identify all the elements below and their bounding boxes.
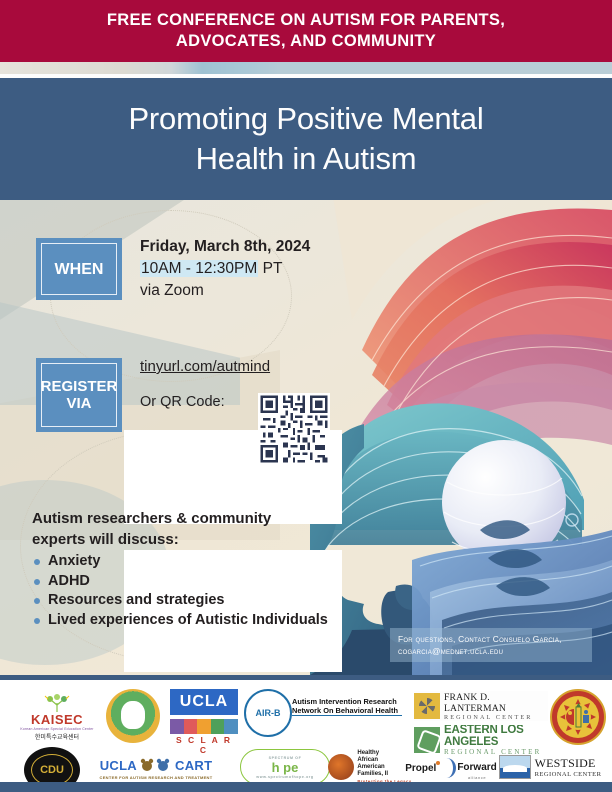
logo-bar-bottom-rule [0, 782, 612, 792]
westside-text: WESTSIDE REGIONAL CENTER [535, 756, 602, 778]
hope-url: www.spectrumofhope.org [256, 775, 313, 779]
event-date: Friday, March 8th, 2024 [140, 236, 340, 258]
frank-lanterman-regional-center-logo: FRANK D. LANTERMAN REGIONAL CENTER [414, 691, 548, 721]
sclarc-logo: S C L A R C [170, 719, 238, 755]
flyer-title: Promoting Positive Mental Health in Auti… [26, 99, 586, 179]
title-band: Promoting Positive Mental Health in Auti… [0, 78, 612, 200]
list-item: Lived experiences of Autistic Individual… [32, 611, 352, 631]
sclarc-wordmark: S C L A R C [170, 735, 238, 755]
westside-regional-center-logo: WESTSIDE REGIONAL CENTER [488, 753, 612, 781]
title-line-2: Health in Autism [26, 139, 586, 179]
register-tag-label-line2: VIA [41, 395, 118, 412]
when-details: Friday, March 8th, 2024 10AM - 12:30PM P… [140, 236, 340, 302]
register-tag: REGISTER VIA [36, 358, 122, 432]
lanterman-icon [414, 693, 440, 719]
cart-word: CART [175, 758, 212, 773]
header-banner-text: FREE CONFERENCE ON AUTISM FOR PARENTS, A… [36, 10, 576, 52]
header-line-1: FREE CONFERENCE ON AUTISM FOR PARENTS, [36, 10, 576, 31]
airb-wordmark: AIR-B [256, 708, 281, 718]
title-line-1: Promoting Positive Mental [26, 99, 586, 139]
spectrum-of-hope-logo: SPECTRUM OF h pe www.spectrumofhope.org [240, 749, 330, 785]
cdu-wordmark: CDU [40, 764, 64, 776]
haf-icon [328, 754, 354, 780]
event-mode: via Zoom [140, 280, 340, 302]
airb-label-line1: Autism Intervention Research [292, 697, 397, 706]
list-item: Anxiety [32, 552, 352, 572]
gradient-divider-strip [0, 62, 612, 74]
ucla-logo: UCLA [170, 689, 238, 715]
cart-bears-icon [139, 757, 173, 775]
contact-box: For questions, Contact Consuelo Garcia, … [390, 628, 592, 662]
qr-code[interactable] [258, 393, 330, 465]
discussion-heading-line1: Autism researchers & community [32, 508, 352, 529]
eastern-los-angeles-regional-center-logo: EASTERN LOS ANGELES REGIONAL CENTER [414, 725, 548, 755]
westside-icon [499, 755, 531, 779]
airb-logo: AIR-B [244, 689, 292, 737]
kaisec-wordmark: KAISEC [31, 712, 83, 727]
logo-bar-top-rule [0, 675, 612, 680]
propel-arc-icon [437, 758, 456, 778]
contact-email: cogarcia@mednet.ucla.edu [398, 645, 584, 657]
event-time: 10AM - 12:30PM PT [140, 258, 340, 280]
conference-flyer: FREE CONFERENCE ON AUTISM FOR PARENTS, A… [0, 0, 612, 792]
kaisec-subtitle: Korean American Special Education Center [20, 727, 93, 731]
kaisec-tree-icon [40, 694, 74, 712]
lausd-seal-logo [550, 689, 606, 745]
when-tag-label: WHEN [55, 261, 104, 278]
propel-word: Propel [405, 763, 436, 774]
discussion-topics: Anxiety ADHD Resources and strategies Li… [32, 552, 352, 630]
cart-subtitle: CENTER FOR AUTISM RESEARCH AND TREATMENT [100, 775, 213, 780]
sclarc-figures [170, 719, 238, 734]
event-time-value: 10AM - 12:30PM [140, 260, 258, 277]
list-item: Resources and strategies [32, 591, 352, 611]
lanterman-subtitle: REGIONAL CENTER [444, 714, 548, 721]
contact-line-1: For questions, Contact Consuelo Garcia, [398, 633, 584, 645]
discussion-heading-line2: experts will discuss: [32, 529, 352, 550]
kaisec-korean: 한미특수교육센터 [35, 732, 79, 741]
airb-network-label: Autism Intervention Research Network On … [292, 697, 402, 727]
discussion-list: Autism researchers & community experts w… [32, 508, 352, 630]
header-banner: FREE CONFERENCE ON AUTISM FOR PARENTS, A… [0, 0, 612, 62]
event-timezone: PT [258, 260, 282, 277]
qr-label: Or QR Code: [140, 394, 225, 410]
airb-label-line2: Network On Behavioral Health [292, 706, 402, 716]
kaisec-logo: KAISEC Korean American Special Education… [14, 691, 100, 743]
ucla-cart-logo: UCLA CART CENTER FOR AUTISM RESEARCH AND… [78, 753, 234, 783]
fiesta-educativa-logo [106, 689, 160, 743]
list-item: ADHD [32, 572, 352, 592]
elarc-text: EASTERN LOS ANGELES REGIONAL CENTER [444, 725, 548, 755]
qr-code-svg [258, 393, 330, 465]
westside-name: WESTSIDE [535, 756, 602, 771]
westside-subtitle: REGIONAL CENTER [535, 771, 602, 778]
register-tag-label-line1: REGISTER [41, 378, 118, 395]
registration-link[interactable]: tinyurl.com/autmind [140, 358, 270, 375]
header-line-2: ADVOCATES, AND COMMUNITY [36, 31, 576, 52]
lanterman-text: FRANK D. LANTERMAN REGIONAL CENTER [444, 692, 548, 721]
sponsor-logo-bar: KAISEC Korean American Special Education… [0, 675, 612, 792]
lausd-seal-svg [552, 691, 604, 743]
when-tag: WHEN [36, 238, 122, 300]
elarc-name: EASTERN LOS ANGELES [444, 725, 548, 748]
lanterman-name: FRANK D. LANTERMAN [444, 692, 548, 714]
cart-ucla-word: UCLA [100, 758, 137, 773]
hope-wordmark: h pe [272, 760, 299, 775]
ucla-wordmark: UCLA [180, 693, 228, 711]
